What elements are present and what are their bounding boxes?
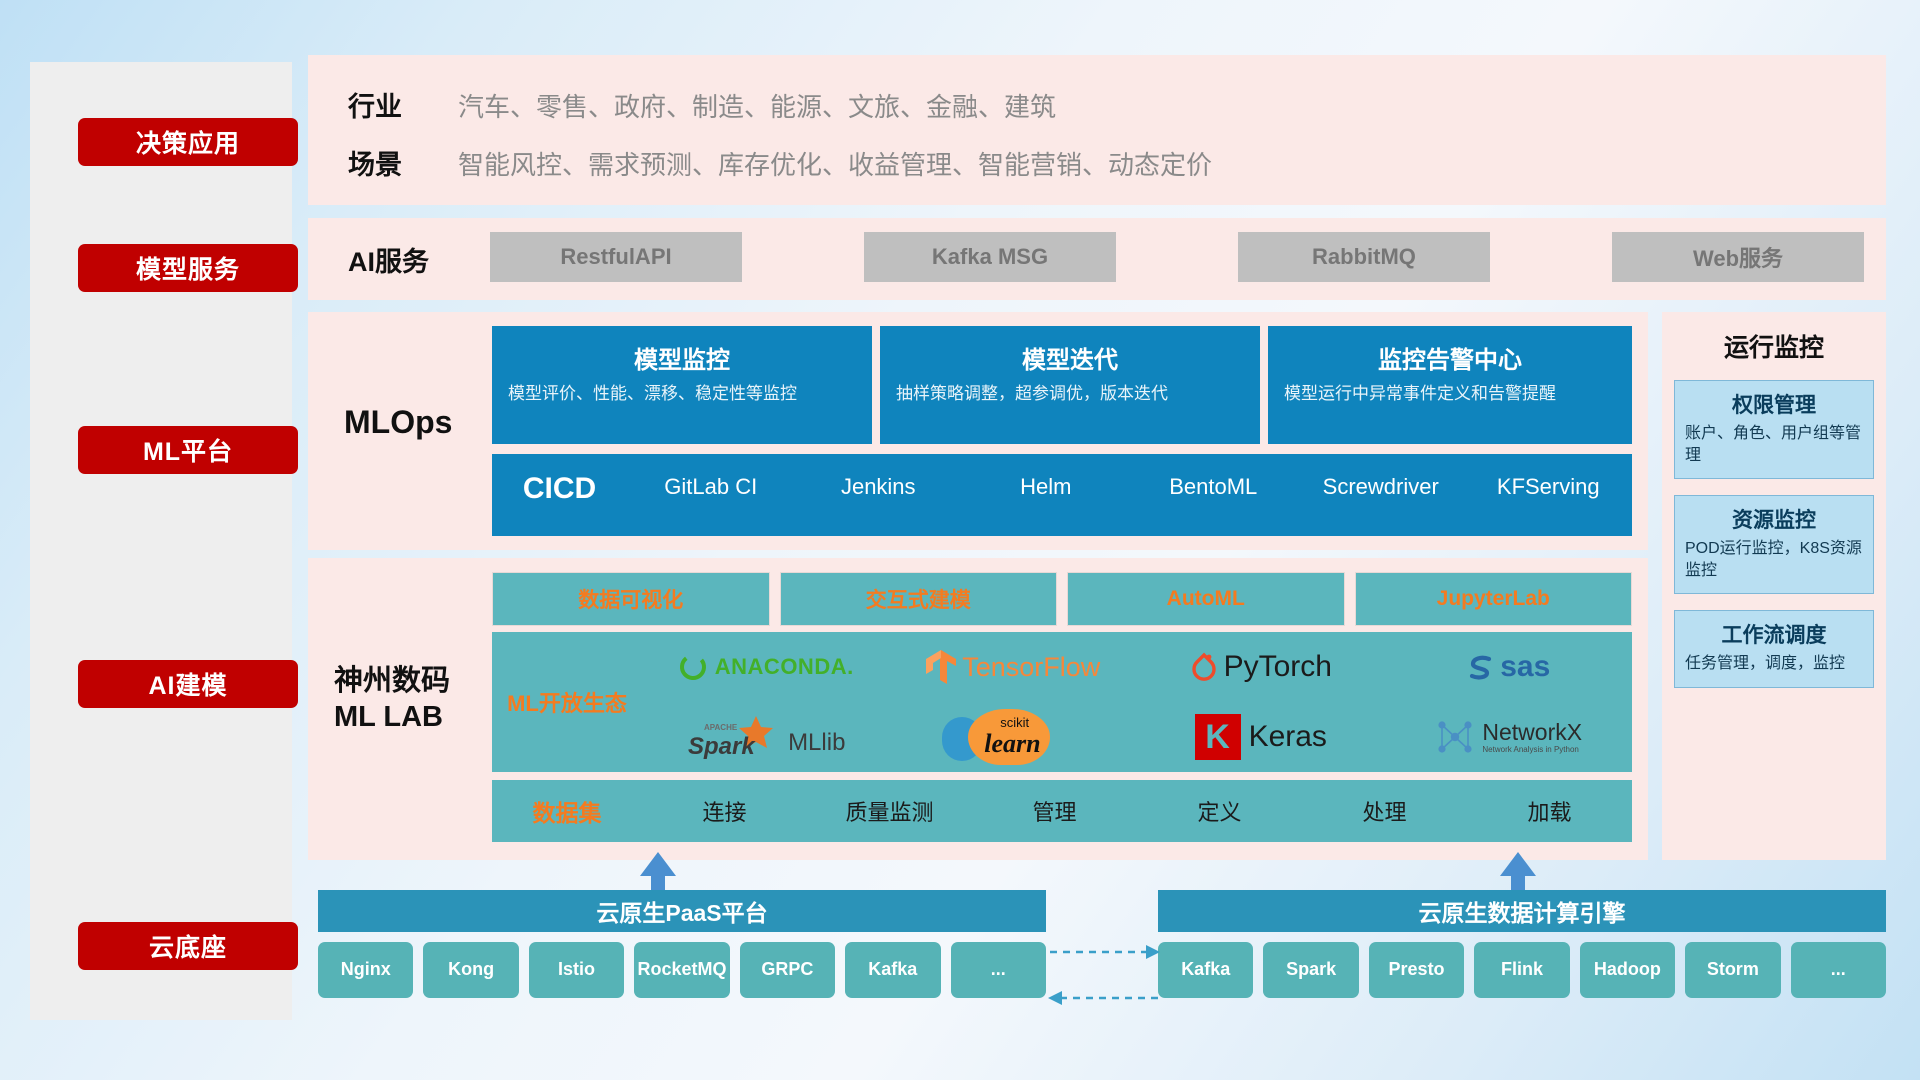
keras-logo-text: Keras <box>1249 720 1327 754</box>
anaconda-logo-text: ANACONDA. <box>715 654 854 680</box>
data-chip-kafka[interactable]: Kafka <box>1158 942 1253 998</box>
cicd-item-helm[interactable]: Helm <box>962 454 1130 499</box>
dataset-bar: 数据集 连接 质量监测 管理 定义 处理 加载 <box>492 780 1632 842</box>
svg-text:APACHE: APACHE <box>704 723 738 732</box>
monitor-card-permission[interactable]: 权限管理 账户、角色、用户组等管理 <box>1674 380 1874 479</box>
cloud-chip-istio[interactable]: Istio <box>529 942 624 998</box>
ai-service-chip-web-service[interactable]: Web服务 <box>1612 232 1864 282</box>
dataset-item-manage[interactable]: 管理 <box>972 795 1137 827</box>
monitor-card-desc: 任务管理，调度，监控 <box>1685 653 1863 675</box>
scenario-value: 智能风控、需求预测、库存优化、收益管理、智能营销、动态定价 <box>458 145 1212 182</box>
ai-service-panel: AI服务 RestfulAPI Kafka MSG RabbitMQ Web服务 <box>308 218 1886 300</box>
dataset-item-define[interactable]: 定义 <box>1137 795 1302 827</box>
dataset-item-process[interactable]: 处理 <box>1302 795 1467 827</box>
mlops-card-desc: 模型运行中异常事件定义和告警提醒 <box>1284 383 1616 406</box>
monitor-card-title: 工作流调度 <box>1685 619 1863 649</box>
cicd-item-kfserving[interactable]: KFServing <box>1465 454 1633 499</box>
mlops-card-desc: 模型评价、性能、漂移、稳定性等监控 <box>508 383 856 406</box>
ml-ecosystem-logo-grid: ANACONDA. TensorFlow PyTorch <box>642 632 1632 772</box>
networkx-logo-text: NetworkX <box>1482 721 1582 744</box>
cicd-item-bentoml[interactable]: BentoML <box>1130 454 1298 499</box>
monitor-card-desc: 账户、角色、用户组等管理 <box>1685 423 1863 466</box>
cloud-chip-grpc[interactable]: GRPC <box>740 942 835 998</box>
sas-logo: sas <box>1466 650 1550 684</box>
cloud-chip-more[interactable]: ... <box>951 942 1046 998</box>
data-chip-presto[interactable]: Presto <box>1369 942 1464 998</box>
ml-lab-panel: 神州数码 ML LAB 数据可视化 交互式建模 AutoML JupyterLa… <box>308 558 1648 860</box>
ai-service-label: AI服务 <box>348 240 429 279</box>
ml-lab-label-line1: 神州数码 <box>334 663 484 699</box>
pytorch-logo-text: PyTorch <box>1224 650 1332 684</box>
cicd-item-gitlab-ci[interactable]: GitLab CI <box>627 454 795 499</box>
cloud-data-engine-group: 云原生数据计算引擎 Kafka Spark Presto Flink Hadoo… <box>1158 890 1886 1020</box>
networkx-logo: NetworkX Network Analysis in Python <box>1434 717 1582 757</box>
mllib-logo-text: MLlib <box>788 729 845 757</box>
mlops-card-title: 监控告警中心 <box>1268 340 1632 375</box>
ml-lab-label-line2: ML LAB <box>334 699 484 735</box>
mlops-card-alert-center[interactable]: 监控告警中心 模型运行中异常事件定义和告警提醒 <box>1268 326 1632 444</box>
monitor-card-title: 资源监控 <box>1685 504 1863 534</box>
mlops-panel: MLOps 模型监控 模型评价、性能、漂移、稳定性等监控 模型迭代 抽样策略调整… <box>308 312 1648 550</box>
ai-service-chip-restfulapi[interactable]: RestfulAPI <box>490 232 742 282</box>
cloud-data-engine-chips: Kafka Spark Presto Flink Hadoop Storm ..… <box>1158 942 1886 998</box>
cicd-item-screwdriver[interactable]: Screwdriver <box>1297 454 1465 499</box>
cloud-paas-chips: Nginx Kong Istio RocketMQ GRPC Kafka ... <box>318 942 1046 998</box>
dataset-item-quality[interactable]: 质量监测 <box>807 795 972 827</box>
pytorch-logo: PyTorch <box>1190 650 1332 684</box>
ai-service-chip-rabbitmq[interactable]: RabbitMQ <box>1238 232 1490 282</box>
dataset-label: 数据集 <box>492 794 642 828</box>
svg-text:Spark: Spark <box>688 733 756 760</box>
data-chip-more[interactable]: ... <box>1791 942 1886 998</box>
mlops-card-model-monitoring[interactable]: 模型监控 模型评价、性能、漂移、稳定性等监控 <box>492 326 872 444</box>
ml-lab-tabs: 数据可视化 交互式建模 AutoML JupyterLab <box>492 572 1632 626</box>
monitor-card-title: 权限管理 <box>1685 389 1863 419</box>
cicd-bar: CICD GitLab CI Jenkins Helm BentoML Scre… <box>492 454 1632 536</box>
sas-logo-text: sas <box>1500 650 1550 684</box>
data-chip-spark[interactable]: Spark <box>1263 942 1358 998</box>
runtime-monitoring-title: 运行监控 <box>1662 328 1886 364</box>
mlops-card-desc: 抽样策略调整，超参调优，版本迭代 <box>896 383 1244 406</box>
cicd-label: CICD <box>492 454 627 506</box>
cloud-chip-kafka[interactable]: Kafka <box>845 942 940 998</box>
tensorflow-logo-text: TensorFlow <box>962 652 1100 683</box>
dataset-item-load[interactable]: 加载 <box>1467 795 1632 827</box>
rail-item-cloud-base[interactable]: 云底座 <box>78 922 298 970</box>
industry-value: 汽车、零售、政府、制造、能源、文旅、金融、建筑 <box>458 87 1056 124</box>
ml-lab-label: 神州数码 ML LAB <box>334 663 484 736</box>
monitor-card-workflow[interactable]: 工作流调度 任务管理，调度，监控 <box>1674 610 1874 688</box>
dataset-item-connect[interactable]: 连接 <box>642 795 807 827</box>
keras-logo: K Keras <box>1195 714 1327 760</box>
cicd-item-jenkins[interactable]: Jenkins <box>795 454 963 499</box>
mlops-card-title: 模型迭代 <box>880 340 1260 375</box>
monitor-card-resource[interactable]: 资源监控 POD运行监控，K8S资源监控 <box>1674 495 1874 594</box>
mlops-card-title: 模型监控 <box>492 340 872 375</box>
data-chip-flink[interactable]: Flink <box>1474 942 1569 998</box>
rail-item-decision-app[interactable]: 决策应用 <box>78 118 298 166</box>
scikit-learn-logo: scikit learn <box>938 707 1088 767</box>
cloud-paas-group: 云原生PaaS平台 Nginx Kong Istio RocketMQ GRPC… <box>318 890 1046 1020</box>
monitor-card-desc: POD运行监控，K8S资源监控 <box>1685 538 1863 581</box>
tensorflow-logo: TensorFlow <box>926 650 1100 684</box>
rail-item-model-service[interactable]: 模型服务 <box>78 244 298 292</box>
industry-label: 行业 <box>348 85 402 124</box>
spark-mllib-logo: APACHE Spark MLlib <box>686 714 845 760</box>
ai-service-chip-kafka-msg[interactable]: Kafka MSG <box>864 232 1116 282</box>
runtime-monitoring-panel: 运行监控 权限管理 账户、角色、用户组等管理 资源监控 POD运行监控，K8S资… <box>1662 312 1886 860</box>
tab-data-visualization[interactable]: 数据可视化 <box>492 572 770 626</box>
ml-ecosystem-label: ML开放生态 <box>492 686 642 718</box>
mlops-label: MLOps <box>344 404 452 441</box>
industry-scenario-panel: 行业 汽车、零售、政府、制造、能源、文旅、金融、建筑 场景 智能风控、需求预测、… <box>308 55 1886 205</box>
tab-jupyterlab[interactable]: JupyterLab <box>1355 572 1633 626</box>
layer-rail: 决策应用 模型服务 ML平台 AI建模 云底座 <box>30 62 292 1020</box>
scenario-label: 场景 <box>348 143 402 182</box>
cloud-data-engine-title: 云原生数据计算引擎 <box>1158 890 1886 932</box>
data-chip-storm[interactable]: Storm <box>1685 942 1780 998</box>
rail-item-ai-modeling[interactable]: AI建模 <box>78 660 298 708</box>
keras-k-mark: K <box>1195 714 1241 760</box>
ml-ecosystem-bar: ML开放生态 ANACONDA. TensorFlow <box>492 632 1632 772</box>
cloud-chip-rocketmq[interactable]: RocketMQ <box>634 942 729 998</box>
cloud-chip-nginx[interactable]: Nginx <box>318 942 413 998</box>
learn-text: learn <box>984 729 1040 759</box>
cloud-chip-kong[interactable]: Kong <box>423 942 518 998</box>
data-chip-hadoop[interactable]: Hadoop <box>1580 942 1675 998</box>
tab-automl[interactable]: AutoML <box>1067 572 1345 626</box>
anaconda-logo: ANACONDA. <box>678 652 854 682</box>
scikit-text: scikit <box>1000 715 1029 730</box>
networkx-tagline: Network Analysis in Python <box>1482 746 1582 754</box>
tab-interactive-modeling[interactable]: 交互式建模 <box>780 572 1058 626</box>
mlops-card-model-iteration[interactable]: 模型迭代 抽样策略调整，超参调优，版本迭代 <box>880 326 1260 444</box>
cloud-paas-title: 云原生PaaS平台 <box>318 890 1046 932</box>
architecture-diagram: 决策应用 模型服务 ML平台 AI建模 云底座 行业 汽车、零售、政府、制造、能… <box>0 0 1920 1080</box>
rail-item-ml-platform[interactable]: ML平台 <box>78 426 298 474</box>
cloud-link-arrows <box>1046 940 1166 1020</box>
